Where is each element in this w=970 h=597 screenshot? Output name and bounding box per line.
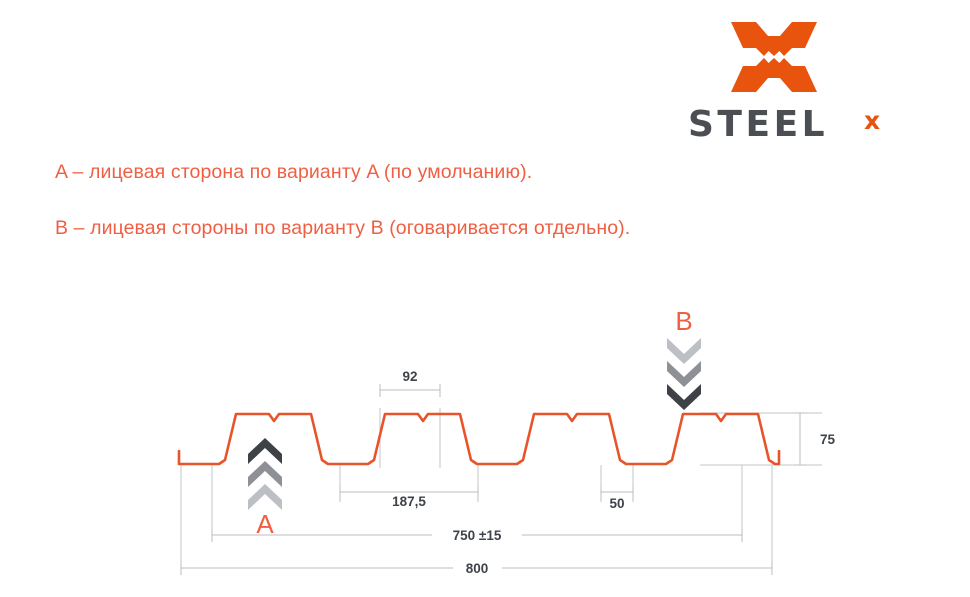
dimension-effective-width: 750 ±15 [212, 528, 742, 543]
steelx-x-logo-icon [730, 18, 818, 96]
marker-a: A [248, 438, 282, 539]
steel-profile-outline [179, 414, 779, 464]
dimension-pitch: 187,5 [340, 486, 478, 509]
dimension-profile-height: 75 [794, 413, 836, 465]
legend-line-variant-b: B – лицевая стороны по варианту B (огова… [55, 217, 630, 240]
legend-line-variant-a: A – лицевая сторона по варианту A (по ум… [55, 161, 532, 184]
profile-cross-section-diagram: A B 92 187,5 [0, 290, 970, 597]
marker-b: B [667, 306, 701, 410]
dimension-crest-width-label: 92 [402, 369, 417, 384]
wordmark-superscript-x: x [864, 102, 880, 140]
dimension-helper-lines [181, 408, 822, 570]
dimension-crest-width: 92 [380, 369, 440, 397]
dimension-valley-width: 50 [601, 486, 633, 511]
dimension-valley-width-label: 50 [609, 496, 624, 511]
dimension-effective-width-label: 750 ±15 [453, 528, 502, 543]
dimension-overall-width: 800 [181, 561, 772, 576]
chevron-down-group-b [667, 338, 701, 410]
chevron-up-group-a [248, 438, 282, 510]
dimension-overall-width-label: 800 [466, 561, 489, 576]
dimension-profile-height-label: 75 [820, 432, 836, 447]
marker-b-label: B [675, 306, 692, 336]
wordmark-steel: STEEL [688, 106, 828, 144]
brand-logo: STEEL x [688, 18, 900, 144]
dimension-pitch-label: 187,5 [392, 494, 426, 509]
brand-wordmark: STEEL x [688, 106, 900, 144]
